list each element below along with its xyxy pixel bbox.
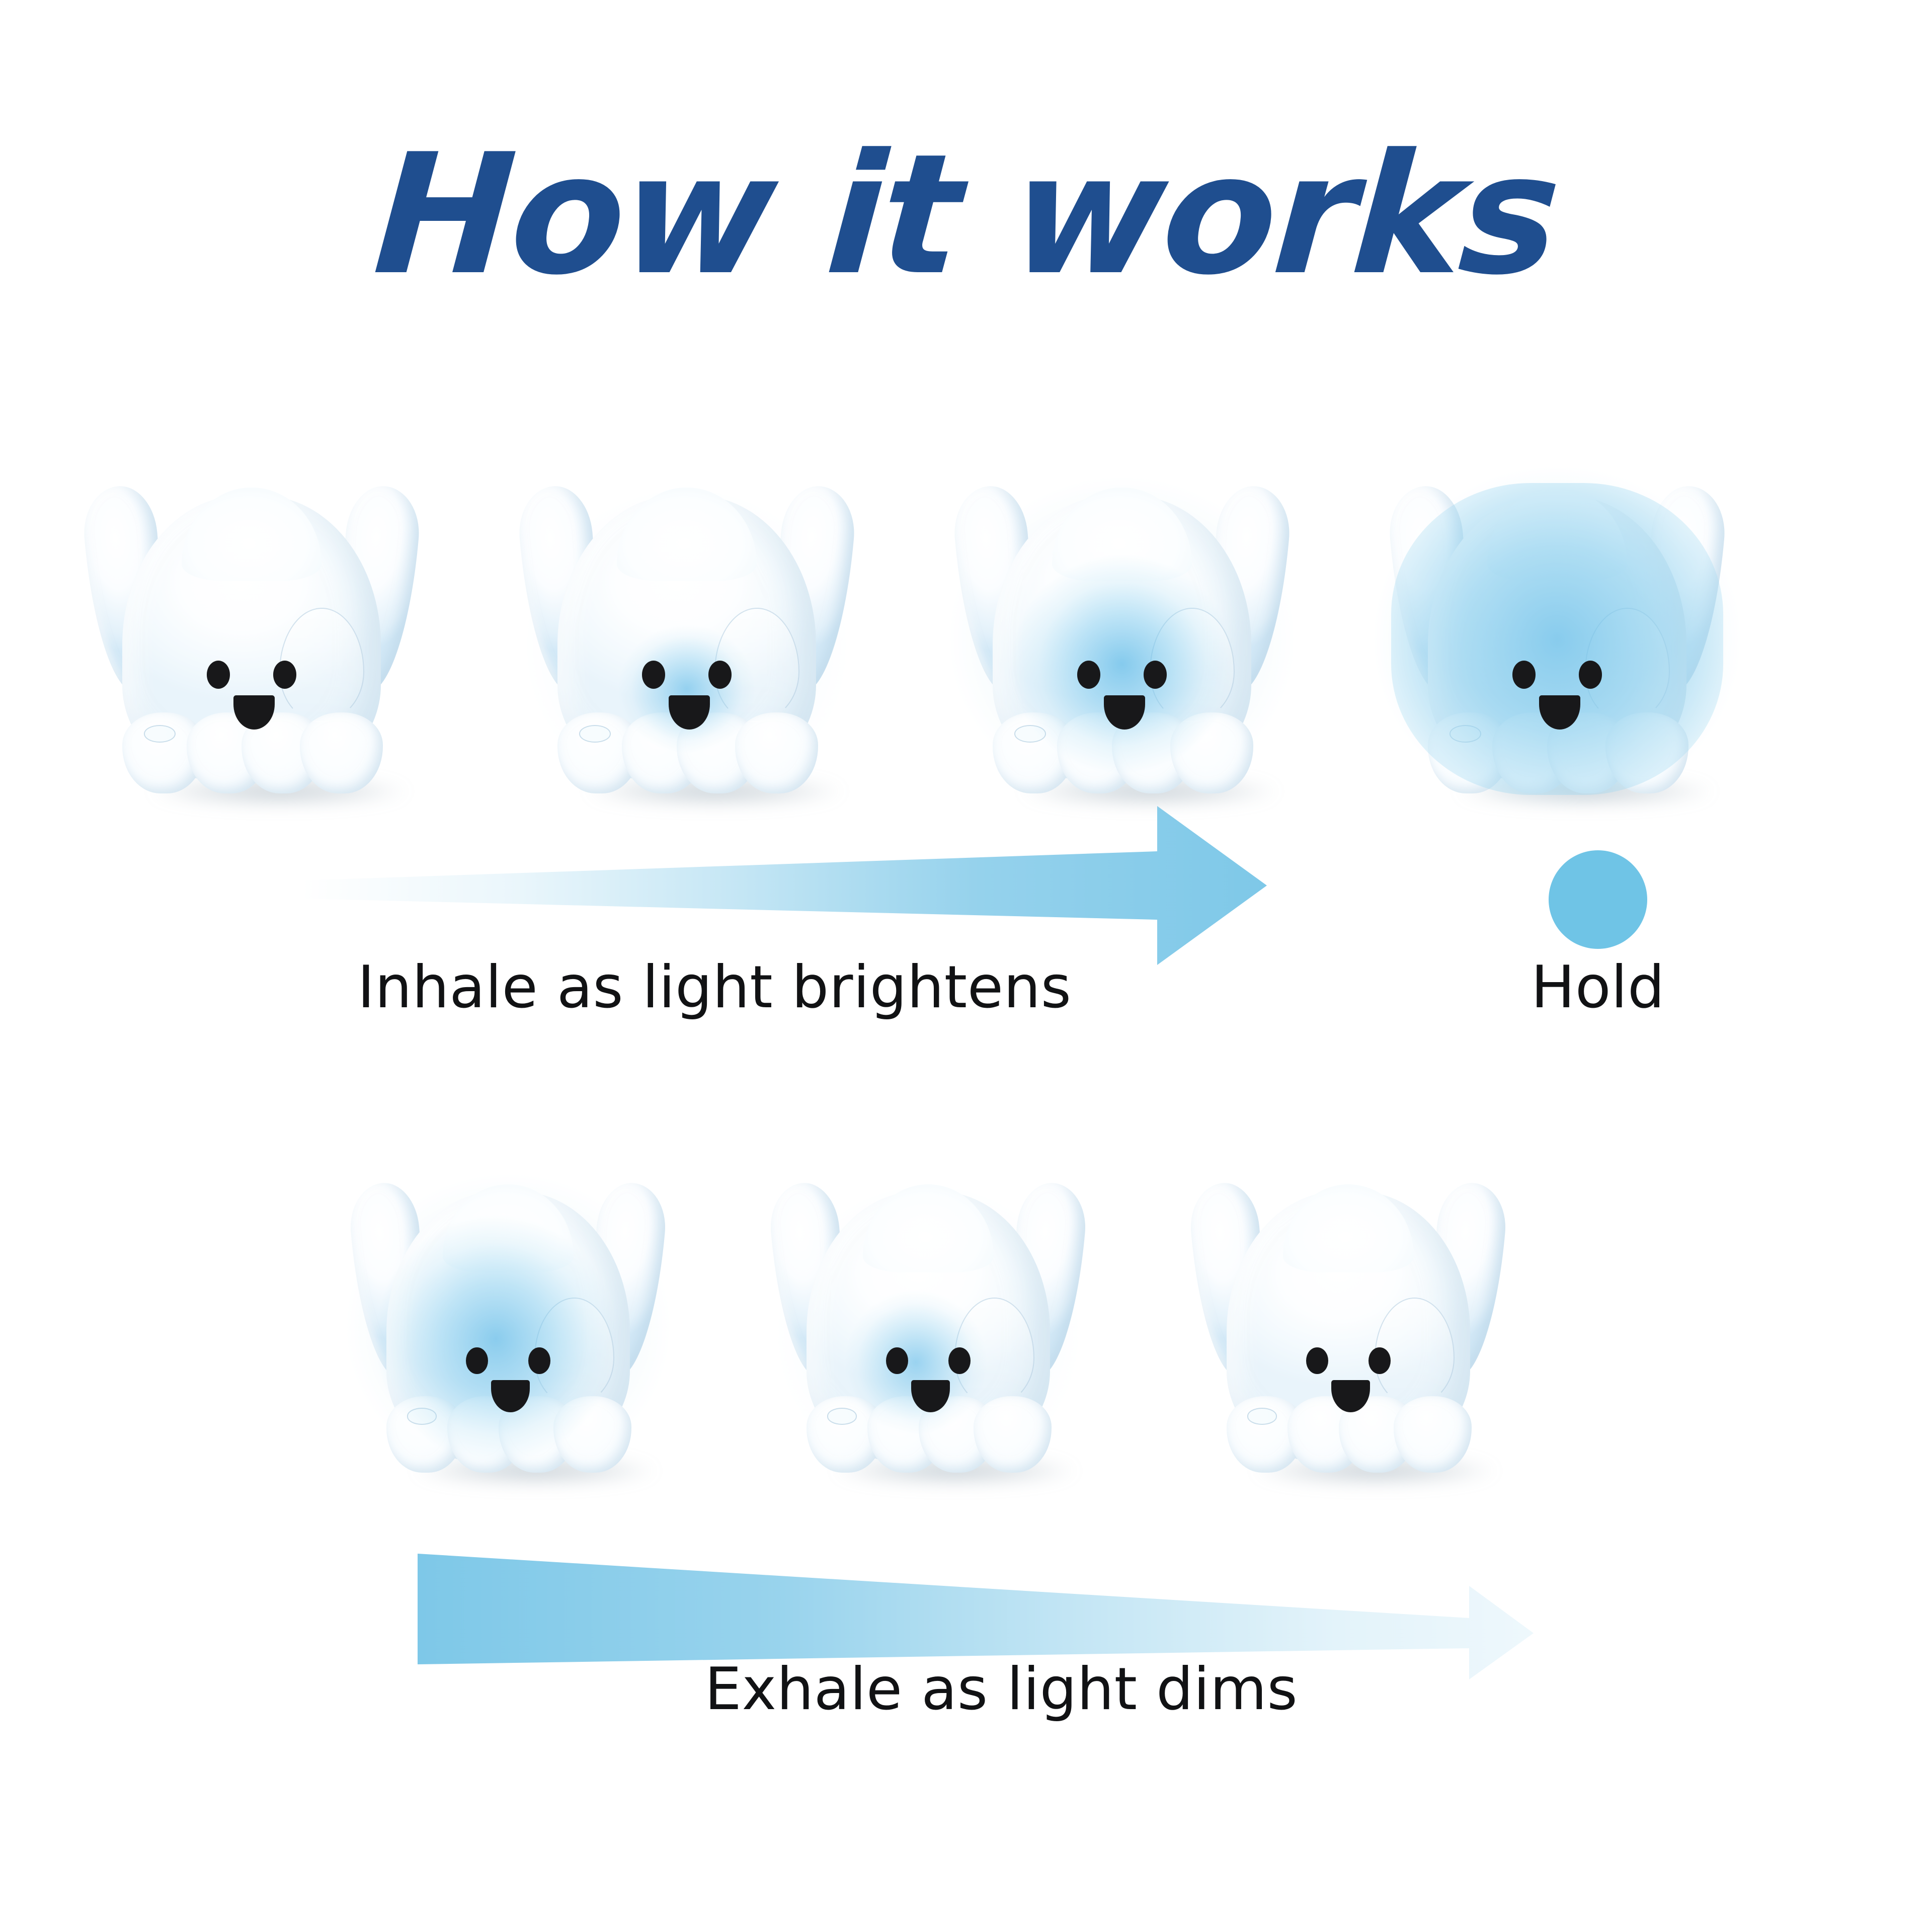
dog-eye-right-icon	[948, 1347, 970, 1374]
dog-eye-right-icon	[708, 661, 732, 689]
dog-head-top	[443, 1184, 574, 1273]
page-title: How it works	[0, 132, 1932, 298]
dog-head-top	[1487, 488, 1627, 581]
dog-step-6	[772, 1180, 1084, 1474]
dog-eye-right-icon	[273, 661, 296, 689]
dog-eye-left-icon	[1512, 661, 1536, 689]
dog-step-7	[1192, 1180, 1504, 1474]
dog-eye-right-icon	[1579, 661, 1602, 689]
dog-eye-right-icon	[1144, 661, 1167, 689]
dog-button-detail	[827, 1408, 857, 1424]
how-it-works-infographic: How it works	[0, 0, 1932, 1932]
dog-step-4	[1391, 483, 1723, 795]
hold-indicator-dot	[1549, 850, 1647, 949]
dog-eye-left-icon	[642, 661, 665, 689]
dog-eye-right-icon	[1369, 1347, 1390, 1374]
dog-paw	[1605, 712, 1688, 793]
dog-head-top	[863, 1184, 994, 1273]
dog-head-top	[182, 488, 321, 581]
dog-button-detail	[579, 725, 611, 743]
exhale-caption: Exhale as light dims	[503, 1660, 1499, 1719]
inhale-caption: Inhale as light brightens	[216, 958, 1213, 1017]
dog-button-detail	[407, 1408, 437, 1424]
dog-button-detail	[1450, 725, 1481, 743]
dog-eye-left-icon	[886, 1347, 908, 1374]
dog-eye-left-icon	[207, 661, 230, 689]
inhale-arrow-icon	[302, 805, 1268, 966]
dog-head-top	[1283, 1184, 1414, 1273]
dog-step-5	[352, 1180, 664, 1474]
dog-step-2	[521, 483, 853, 795]
dog-step-1	[86, 483, 418, 795]
dog-button-detail	[1014, 725, 1046, 743]
hold-caption: Hold	[1447, 958, 1749, 1017]
dog-eye-left-icon	[466, 1347, 488, 1374]
dog-button-detail	[1247, 1408, 1277, 1424]
dog-head-top	[617, 488, 756, 581]
dog-step-3	[956, 483, 1288, 795]
dog-eye-left-icon	[1077, 661, 1100, 689]
dog-head-top	[1052, 488, 1191, 581]
dog-eye-right-icon	[528, 1347, 550, 1374]
dog-eye-left-icon	[1306, 1347, 1328, 1374]
dog-paw	[1170, 712, 1253, 793]
dog-paw	[735, 712, 818, 793]
dog-paw	[300, 712, 383, 793]
dog-button-detail	[144, 725, 176, 743]
